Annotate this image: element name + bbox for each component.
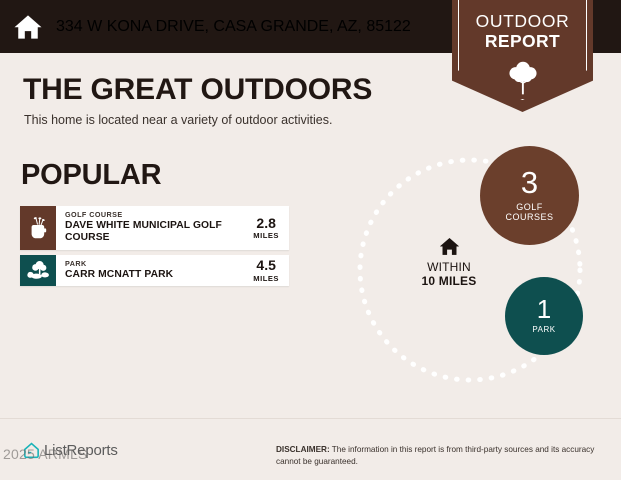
outdoor-report-badge: OUTDOOR REPORT — [452, 0, 593, 112]
bubble-count: 1 — [537, 297, 551, 322]
page-subtitle: This home is located near a variety of o… — [24, 113, 332, 127]
bubble-count: 3 — [521, 168, 538, 197]
park-trees-icon — [27, 260, 49, 280]
bubble-label-line1: GOLF — [516, 202, 543, 212]
tree-icon — [506, 58, 540, 96]
bubble-label-line1: PARK — [532, 325, 555, 334]
list-item-icon-tile — [20, 255, 56, 286]
footer-divider — [0, 418, 621, 419]
bubble-label: GOLF COURSES — [505, 202, 553, 223]
home-icon — [439, 237, 460, 256]
within-line1: WITHIN — [404, 260, 494, 274]
popular-heading: POPULAR — [21, 159, 161, 192]
disclaimer: DISCLAIMER: The information in this repo… — [276, 444, 596, 467]
summary-bubble-parks: 1 PARK — [505, 277, 583, 355]
bubble-label: PARK — [532, 325, 555, 334]
list-item-category: GOLF COURSE — [65, 210, 243, 220]
badge-title-line1: OUTDOOR — [452, 12, 593, 32]
property-address: 334 W KONA DRIVE, CASA GRANDE, AZ, 85122 — [56, 18, 411, 36]
list-item-name: DAVE WHITE MUNICIPAL GOLF COURSE — [65, 220, 243, 245]
disclaimer-label: DISCLAIMER: — [276, 445, 330, 454]
badge-title-line2: REPORT — [452, 32, 593, 52]
mls-watermark: 2025 ARMLS — [3, 446, 88, 462]
within-radius-label: WITHIN 10 MILES — [404, 237, 494, 288]
list-item-distance-value: 2.8 — [256, 216, 275, 231]
page-title: THE GREAT OUTDOORS — [23, 73, 372, 107]
golf-bag-icon — [28, 217, 48, 239]
list-item-distance: 4.5 MILES — [249, 255, 289, 286]
list-item-category: PARK — [65, 259, 243, 269]
list-item-distance-unit: MILES — [253, 231, 279, 240]
list-item-name: CARR MCNATT PARK — [65, 269, 243, 282]
list-item-distance-value: 4.5 — [256, 258, 275, 273]
list-item[interactable]: PARK CARR MCNATT PARK 4.5 MILES — [20, 255, 289, 286]
bubble-label-line2: COURSES — [505, 212, 553, 222]
summary-bubble-golf-courses: 3 GOLF COURSES — [480, 146, 579, 245]
home-icon — [13, 12, 43, 42]
badge-title: OUTDOOR REPORT — [452, 12, 593, 51]
list-item-icon-tile — [20, 206, 56, 250]
within-line2: 10 MILES — [404, 274, 494, 288]
list-item-distance-unit: MILES — [253, 274, 279, 283]
popular-list: GOLF COURSE DAVE WHITE MUNICIPAL GOLF CO… — [20, 206, 289, 291]
list-item[interactable]: GOLF COURSE DAVE WHITE MUNICIPAL GOLF CO… — [20, 206, 289, 250]
outdoor-report-page: 334 W KONA DRIVE, CASA GRANDE, AZ, 85122… — [0, 0, 621, 480]
list-item-distance: 2.8 MILES — [249, 206, 289, 250]
